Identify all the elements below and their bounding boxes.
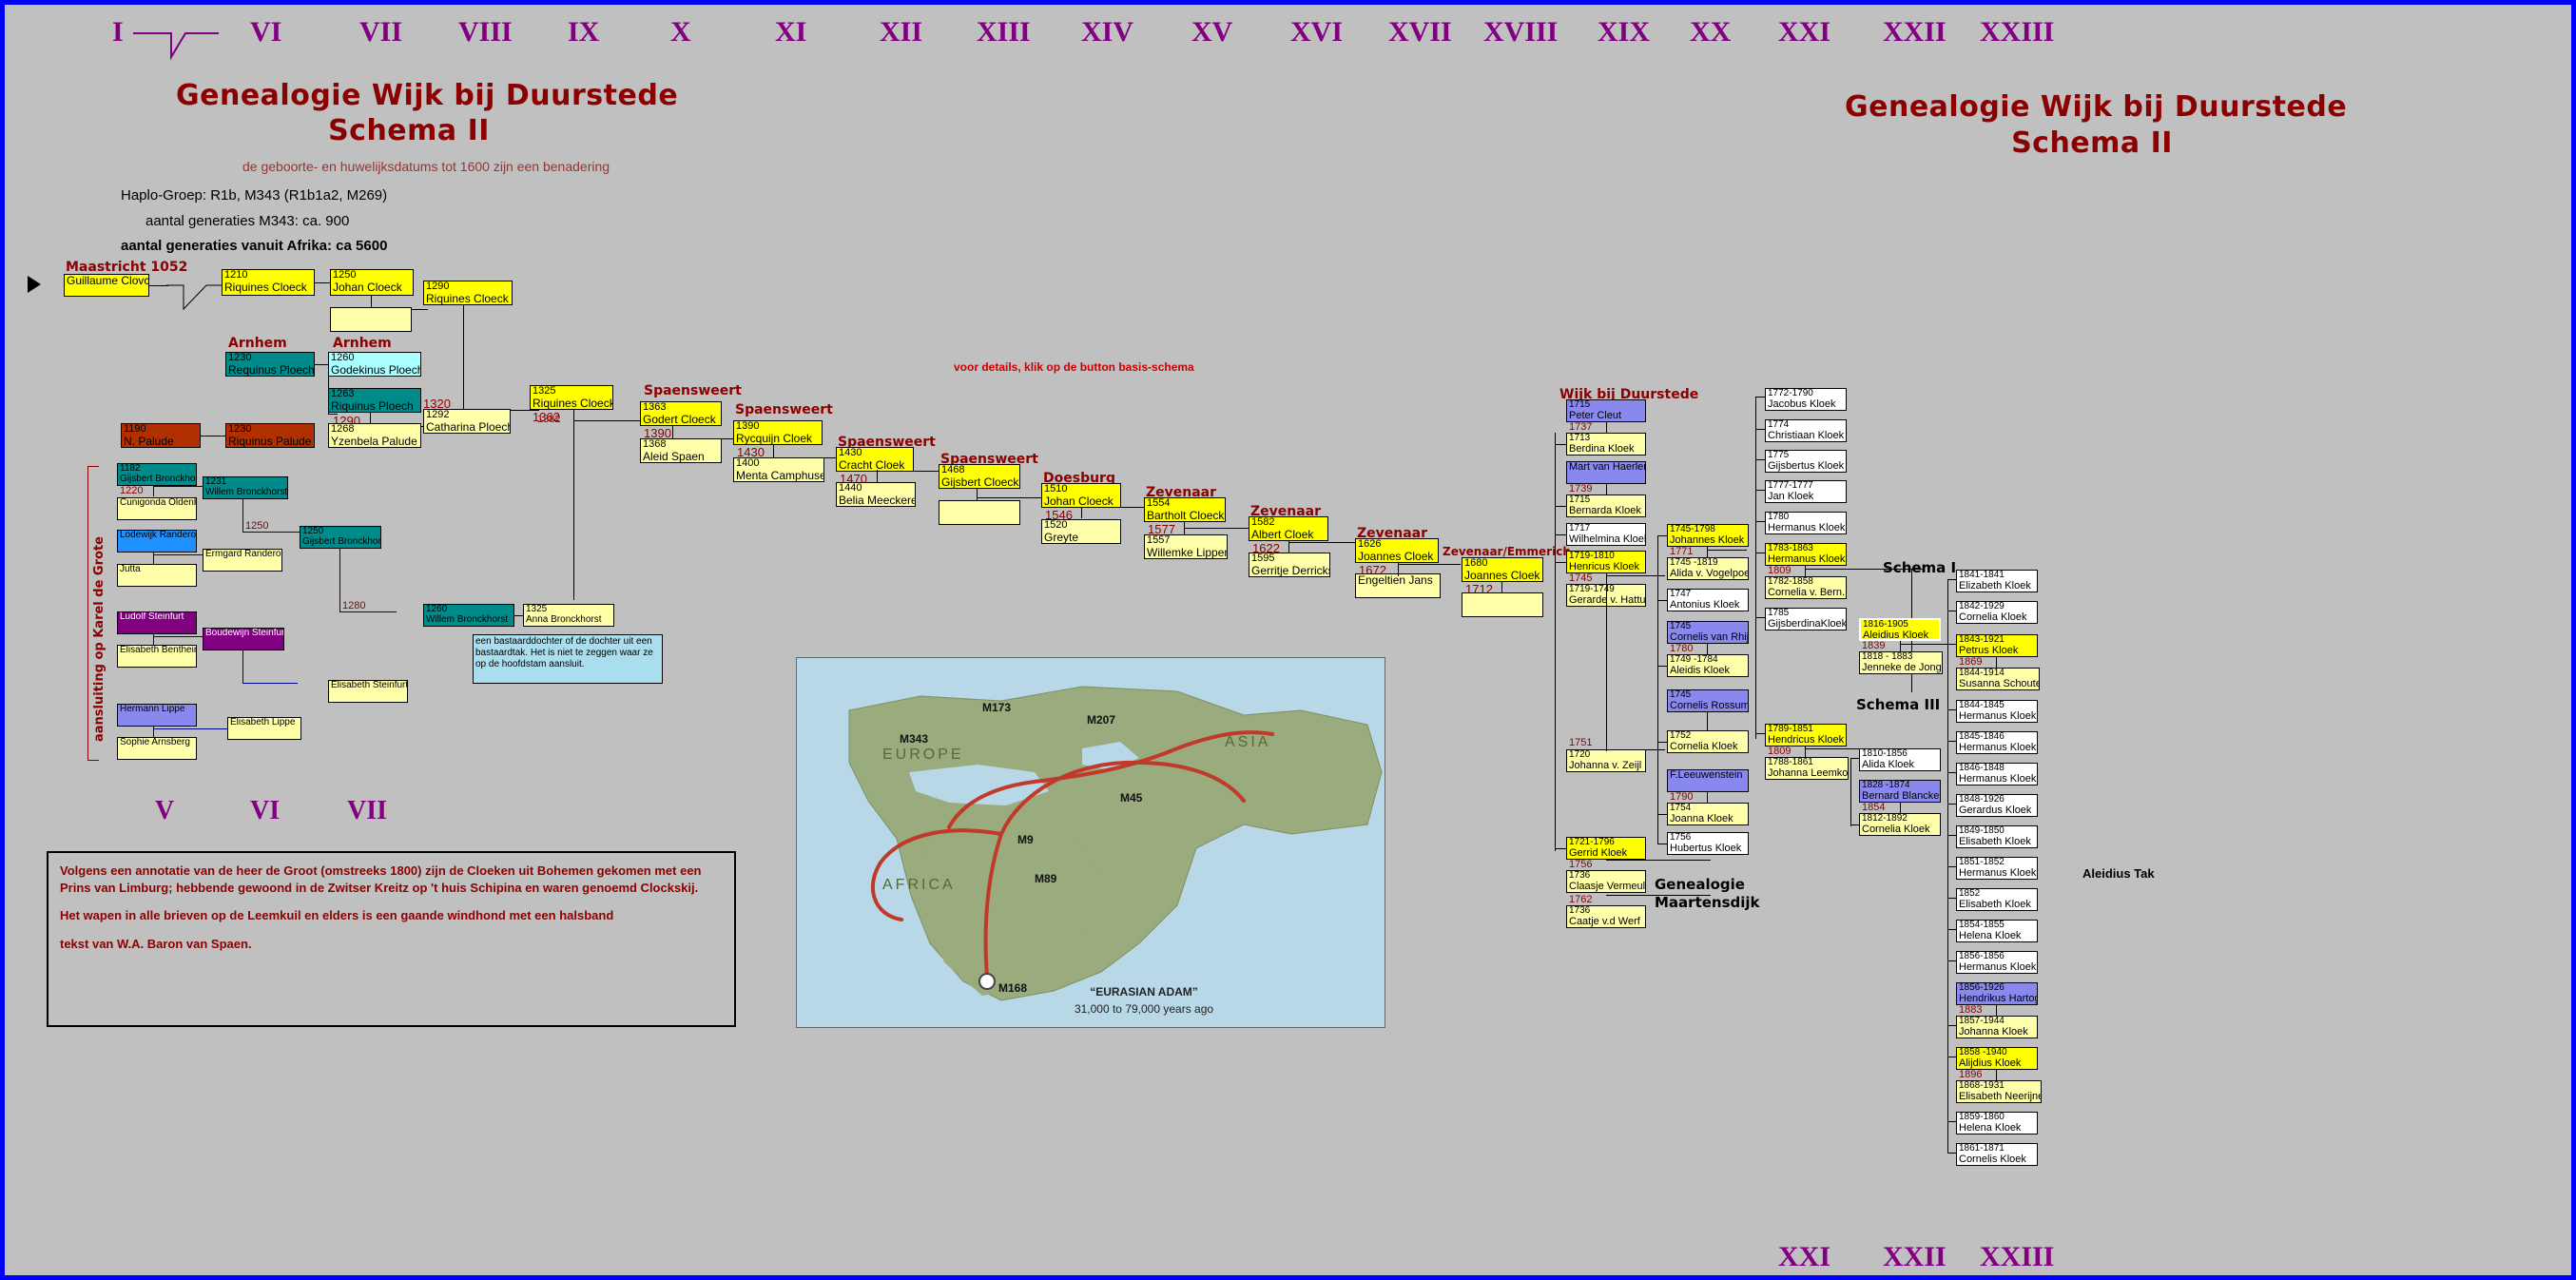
person-name: Johannes Kloek: [1670, 535, 1746, 547]
person-year: 1210: [224, 270, 312, 281]
person-name: Rycquijn Cloek: [736, 433, 820, 445]
person-box-alijdius1858[interactable]: 1858 -1940 Alijdius Kloek: [1956, 1047, 2038, 1070]
marriage-year-1896: 1896: [1959, 1069, 1982, 1080]
person-name: Cornelia Kloek: [1670, 742, 1746, 753]
person-box-elisabeth-bentheim[interactable]: Elisabeth Bentheim: [117, 645, 197, 668]
person-box-f-leeuwenstein[interactable]: F.Leeuwenstein: [1667, 769, 1749, 792]
person-year: 1263: [331, 389, 418, 400]
person-box-riquinus-palude[interactable]: 1230 Riquinus Palude: [225, 423, 315, 448]
marriage-year-1809b: 1809: [1768, 746, 1791, 757]
person-name: Jenneke de Jong: [1862, 663, 1940, 674]
map-marker-M168: M168: [998, 981, 1027, 995]
marriage-year-1751: 1751: [1569, 737, 1592, 748]
person-year: 1856-1856: [1959, 952, 2035, 962]
person-name: Elisabeth Kloek: [1959, 900, 2035, 911]
person-year: 1782-1858: [1768, 577, 1844, 588]
person-box-johan1510[interactable]: 1510 Johan Cloeck: [1041, 483, 1121, 508]
person-year: 1810-1856: [1862, 749, 1938, 760]
person-name: Jutta: [120, 565, 194, 575]
annotation-note-box: Volgens een annotatie van de heer de Gro…: [47, 851, 736, 1027]
person-name: Albert Cloek: [1251, 529, 1326, 541]
person-year: 1816-1905: [1863, 620, 1937, 630]
person-box-jan1777[interactable]: 1777-1777 Jan Kloek: [1765, 480, 1847, 503]
person-box-godekinus1260[interactable]: 1260 Godekinus Ploech: [328, 352, 421, 377]
person-box-aleidis1749[interactable]: 1749 -1784 Aleidis Kloek: [1667, 654, 1749, 677]
person-name: Peter Cleut: [1569, 411, 1643, 422]
person-box-riquinus1263[interactable]: 1263 Riquinus Ploech: [328, 388, 421, 413]
person-year: 1250: [333, 270, 411, 281]
person-year: 1626: [1358, 539, 1436, 551]
person-name: Godert Cloeck: [643, 414, 719, 426]
person-year: 1842-1929: [1959, 602, 2035, 612]
person-year: 1754: [1670, 804, 1746, 814]
person-name: GijsberdinaKloek: [1768, 619, 1844, 630]
person-name: Bernarda Kloek: [1569, 506, 1643, 517]
person-year: 1852: [1959, 889, 2035, 900]
person-box-jacobus1772[interactable]: 1772-1790 Jacobus Kloek: [1765, 388, 1847, 411]
person-year: 1715: [1569, 495, 1643, 506]
person-name: Hermanus Kloek: [1959, 743, 2035, 754]
person-box-hendricus1789[interactable]: 1789-1851 Hendricus Kloek: [1765, 724, 1847, 747]
person-name: Catharina Ploech: [426, 421, 508, 434]
ruler-top-XI: XI: [775, 16, 806, 48]
person-name: Johan Cloeck: [333, 281, 411, 294]
person-box-hermanus1845[interactable]: 1845-1846 Hermanus Kloek: [1956, 731, 2038, 754]
person-name: Boudewijn Steinfurt: [205, 629, 281, 639]
person-year: 1325: [526, 605, 611, 615]
person-box-gijsbert1468[interactable]: 1468 Gijsbert Cloeck: [939, 464, 1020, 489]
person-year: 1818 - 1883: [1862, 652, 1940, 663]
haplogroup-line-1: Haplo-Groep: R1b, M343 (R1b1a2, M269): [121, 187, 387, 204]
label-genealogie-maartensdijk-1[interactable]: Genealogie: [1655, 876, 1745, 893]
person-box-requinus1230[interactable]: 1230 Requinus Ploech: [225, 352, 315, 377]
person-year: 1680: [1464, 558, 1540, 570]
person-year: 1736: [1569, 871, 1643, 882]
person-year: 1858 -1940: [1959, 1048, 2035, 1058]
map-label-africa: AFRICA: [882, 877, 956, 894]
ruler-top-XXII: XXII: [1883, 16, 1947, 48]
person-name: Alijdius Kloek: [1959, 1058, 2035, 1070]
person-name: Alida v. Vogelpoel: [1670, 569, 1746, 580]
person-name: Berdina Kloek: [1569, 444, 1643, 456]
person-box-albert1582[interactable]: 1582 Albert Cloek: [1249, 516, 1328, 541]
person-name: Johanna Kloek: [1959, 1027, 2035, 1038]
person-box-cornelia1842[interactable]: 1842-1929 Cornelia Kloek: [1956, 601, 2038, 624]
person-year: 1260: [331, 353, 418, 364]
person-name: Elisabeth Lippe: [230, 718, 299, 728]
genealogy-chart-canvas: I VI VII VIII IX X XI XII XIII XIV XV XV…: [5, 5, 2571, 1275]
person-box-claasje[interactable]: 1736 Claasje Vermeulen: [1566, 870, 1646, 893]
person-year: 1780: [1768, 513, 1844, 523]
person-year: 1774: [1768, 420, 1844, 431]
ruler-top-XIV: XIV: [1081, 16, 1133, 48]
person-box-bernard-blancke[interactable]: 1828 -1874 Bernard Blancke: [1859, 780, 1941, 803]
person-name: Wilhelmina Kloek: [1569, 534, 1643, 546]
person-box-gerardus1848[interactable]: 1848-1926 Gerardus Kloek: [1956, 794, 2038, 817]
person-name: F.Leeuwenstein: [1670, 770, 1746, 782]
person-year: 1510: [1044, 484, 1118, 495]
person-box-hermanus1783[interactable]: 1783-1863 Hermanus Kloek: [1765, 543, 1847, 566]
person-box-cornelis-rhijn[interactable]: 1745 Cornelis van Rhijn: [1667, 621, 1749, 644]
person-year: 1789-1851: [1768, 725, 1844, 735]
map-caption-line2: 31,000 to 79,000 years ago: [1035, 1002, 1253, 1016]
person-year: 1290: [426, 281, 510, 293]
person-box-hermanus1780[interactable]: 1780 Hermanus Kloek: [1765, 512, 1847, 534]
person-box-catharina1292[interactable]: 1292 Catharina Ploech: [423, 409, 511, 434]
person-name: Requinus Ploech: [228, 364, 312, 377]
person-year: 1745 -1819: [1670, 558, 1746, 569]
person-box-susanna1844[interactable]: 1844-1914 Susanna Schouten: [1956, 668, 2040, 690]
person-box-anna1325[interactable]: 1325 Anna Bronckhorst: [523, 604, 614, 627]
subtitle-left: de geboorte- en huwelijksdatums tot 1600…: [242, 159, 610, 174]
person-box-johan1250[interactable]: 1250 Johan Cloeck: [330, 269, 414, 296]
label-aleidius-tak: Aleidius Tak: [2082, 866, 2155, 881]
person-box-gijsberdina1785[interactable]: 1785 GijsberdinaKloek: [1765, 608, 1847, 630]
person-box-godert1363[interactable]: 1363 Godert Cloeck: [640, 401, 722, 426]
person-name: Hermanus Kloek: [1959, 868, 2035, 880]
ruler-top-IX: IX: [568, 16, 599, 48]
person-name: Willem Bronckhorst: [205, 488, 285, 498]
person-name: Willem Bronckhorst: [426, 615, 512, 626]
person-box-hermanus1844[interactable]: 1844-1845 Hermanus Kloek: [1956, 700, 2038, 723]
marriage-year-1745: 1745: [1569, 572, 1592, 584]
person-name: Mart van Haerlem: [1569, 462, 1643, 474]
person-name: Claasje Vermeulen: [1569, 882, 1643, 893]
person-name: Hubertus Kloek: [1670, 844, 1746, 855]
page-title-right-line2: Schema II: [1845, 126, 2339, 160]
person-box-cunigonda[interactable]: Cunigonda Oldenburg: [117, 497, 197, 520]
person-year: 1390: [736, 421, 820, 433]
note-paragraph-3: tekst van W.A. Baron van Spaen.: [60, 936, 723, 953]
person-year: 1848-1926: [1959, 795, 2035, 805]
person-year: 1777-1777: [1768, 481, 1844, 492]
marriage-year-1869: 1869: [1959, 656, 1982, 668]
person-year: 1368: [643, 439, 719, 451]
person-year: 1841-1841: [1959, 571, 2035, 581]
person-box-petrus1843[interactable]: 1843-1921 Petrus Kloek: [1956, 634, 2038, 657]
person-name: Cracht Cloek: [839, 459, 911, 472]
person-year: 1713: [1569, 434, 1643, 444]
person-box-menta1400[interactable]: 1400 Menta Camphusen: [733, 457, 824, 482]
person-box-jutta[interactable]: Jutta: [117, 564, 197, 587]
ruler-top-XII: XII: [880, 16, 922, 48]
person-year: 1857-1944: [1959, 1017, 2035, 1027]
person-box-elisabeth-neerijnen[interactable]: 1868-1931 Elisabeth Neerijnen: [1956, 1080, 2042, 1103]
person-name: Hermanus Kloek: [1768, 554, 1844, 566]
person-year: 1843-1921: [1959, 635, 2035, 646]
person-name: Greyte: [1044, 532, 1118, 544]
start-arrow-icon: [28, 276, 41, 293]
person-name: Joannes Cloek: [1464, 570, 1540, 582]
person-name: Yzenbela Palude: [331, 436, 418, 448]
person-box-cornelia1812[interactable]: 1812-1892 Cornelia Kloek: [1859, 813, 1941, 836]
person-box-elisabeth1852[interactable]: 1852 Elisabeth Kloek: [1956, 888, 2038, 911]
person-year: 1849-1850: [1959, 826, 2035, 837]
person-year: 1231: [205, 477, 285, 488]
person-box-gijsbert1250[interactable]: 1250 Gijsbert Bronckhorst: [300, 526, 381, 549]
marriage-year-1883: 1883: [1959, 1004, 1982, 1016]
person-year: 1719-1810: [1569, 552, 1643, 562]
map-marker-M343: M343: [900, 732, 928, 746]
person-year: 1856-1926: [1959, 983, 2035, 994]
ruler-top-XVII: XVII: [1388, 16, 1452, 48]
marriage-year-1280: 1280: [342, 600, 365, 611]
person-name: Willemke Lippert: [1147, 547, 1225, 559]
person-box-joannes1680[interactable]: 1680 Joannes Cloek: [1462, 557, 1543, 582]
label-genealogie-maartensdijk-2[interactable]: Maartensdijk: [1655, 894, 1760, 911]
person-name: Ermgard Randerode: [205, 550, 280, 560]
person-box-joannes1626[interactable]: 1626 Joannes Cloek: [1355, 538, 1439, 563]
person-box-cornelia-bern[interactable]: 1782-1858 Cornelia v. Bern.: [1765, 576, 1847, 599]
person-box-hendrikus-hartog[interactable]: 1856-1926 Hendrikus Hartog: [1956, 982, 2038, 1005]
map-marker-M89: M89: [1035, 872, 1056, 885]
person-box-christiaan1774[interactable]: 1774 Christiaan Kloek: [1765, 419, 1847, 442]
person-year: 1745-1798: [1670, 525, 1746, 535]
person-box-willemke1557[interactable]: 1557 Willemke Lippert: [1144, 534, 1228, 559]
person-year: 1859-1860: [1959, 1113, 2035, 1123]
person-year: 1745: [1670, 690, 1746, 701]
person-name: Petrus Kloek: [1959, 646, 2035, 657]
person-box-guillaume[interactable]: Guillaume Clovck: [64, 274, 149, 297]
person-box-elizabeth1841[interactable]: 1841-1841 Elizabeth Kloek: [1956, 570, 2038, 592]
person-box-mart-haerlem[interactable]: Mart van Haerlem: [1566, 461, 1646, 484]
person-year: 1268: [331, 424, 418, 436]
person-name: Riquinus Ploech: [331, 400, 418, 413]
person-name: Gerrid Kloek: [1569, 848, 1643, 860]
person-name: Bartholt Cloeck: [1147, 510, 1223, 522]
person-name: Joanna Kloek: [1670, 814, 1746, 825]
vertical-note-karel-de-grote: aansluiting op Karel de Grote: [92, 536, 107, 742]
bastard-note-box: een bastaarddochter of de dochter uit ee…: [473, 634, 663, 684]
person-year: 1182: [120, 464, 194, 475]
page-title-left-line2: Schema II: [176, 114, 642, 147]
person-box-johanna-zeijl[interactable]: 1720 Johanna v. Zeijl: [1566, 749, 1646, 772]
person-box-helena1854[interactable]: 1854-1855 Helena Kloek: [1956, 920, 2038, 942]
person-name: Johanna v. Zeijl: [1569, 761, 1643, 772]
label-schema-i[interactable]: Schema I: [1883, 559, 1956, 576]
ruler-top-XXIII: XXIII: [1980, 16, 2054, 48]
person-box-gerritje1595[interactable]: 1595 Gerritje Derricks: [1249, 553, 1330, 577]
person-year: 1325: [533, 386, 610, 398]
person-name: Gijsbert Cloeck: [941, 476, 1017, 489]
person-name: Gijsbertus Kloek: [1768, 461, 1844, 473]
person-year: 1292: [426, 410, 508, 421]
person-name: N. Palude: [124, 436, 198, 448]
person-year: 1557: [1147, 535, 1225, 547]
person-year: 1845-1846: [1959, 732, 2035, 743]
details-hint-text[interactable]: voor details, klik op de button basis-sc…: [954, 360, 1194, 374]
person-year: 1468: [941, 465, 1017, 476]
ruler-top-VII: VII: [359, 16, 402, 48]
person-year: 1846-1848: [1959, 764, 2035, 774]
person-box-wilhelmina[interactable]: 1717 Wilhelmina Kloek: [1566, 523, 1646, 546]
label-arnhem-1: Arnhem: [228, 336, 287, 351]
person-box-engeltien[interactable]: Engeltien Jans: [1355, 573, 1441, 598]
person-name: Belia Meeckeren: [839, 495, 913, 507]
person-year: 1844-1914: [1959, 669, 2037, 679]
person-name: Riquines Cloeck: [224, 281, 312, 294]
person-box-hermanus1846[interactable]: 1846-1848 Hermanus Kloek: [1956, 763, 2038, 785]
person-box-bartholt1554[interactable]: 1554 Bartholt Cloeck: [1144, 497, 1226, 522]
person-name: Elisabeth Steinfurt: [331, 681, 405, 691]
person-box-ermgard[interactable]: Ermgard Randerode: [203, 549, 282, 572]
person-box-willem1231[interactable]: 1231 Willem Bronckhorst: [203, 476, 288, 499]
person-year: 1715: [1569, 400, 1643, 411]
person-box-johannes1745[interactable]: 1745-1798 Johannes Kloek: [1667, 524, 1749, 547]
person-box-rycquijn1390[interactable]: 1390 Rycquijn Cloek: [733, 420, 823, 445]
person-year: 1772-1790: [1768, 389, 1844, 399]
label-zevenaar-emmerich: Zevenaar/Emmerich: [1443, 545, 1571, 558]
person-year: 1861-1871: [1959, 1144, 2035, 1154]
person-box-cracht1430[interactable]: 1430 Cracht Cloek: [836, 447, 914, 472]
person-box-blank3[interactable]: [1462, 592, 1543, 617]
person-year: 1250: [302, 527, 378, 537]
person-box-aleid1368[interactable]: 1368 Aleid Spaen: [640, 438, 722, 463]
person-box-johanna-leemkolk[interactable]: 1788-1861 Johanna Leemkolk: [1765, 757, 1849, 780]
person-box-riquines1210[interactable]: 1210 Riquines Cloeck: [222, 269, 315, 296]
ruler-top-XVI: XVI: [1290, 16, 1343, 48]
person-box-johanna1857[interactable]: 1857-1944 Johanna Kloek: [1956, 1016, 2038, 1038]
person-year: 1260: [426, 605, 512, 615]
haplogroup-line-2: aantal generaties M343: ca. 900: [145, 213, 349, 229]
marriage-year-1790: 1790: [1670, 791, 1693, 803]
person-box-gijsbertus1775[interactable]: 1775 Gijsbertus Kloek: [1765, 450, 1847, 473]
person-box-caatje[interactable]: 1736 Caatje v.d Werf: [1566, 905, 1646, 928]
person-name: Cornelia Kloek: [1862, 824, 1938, 836]
person-year: 1788-1861: [1768, 758, 1846, 768]
person-box-willem1260[interactable]: 1260 Willem Bronckhorst: [423, 604, 514, 627]
label-spaensweert-1: Spaensweert: [644, 383, 742, 398]
page-title-right-line1: Genealogie Wijk bij Duurstede: [1845, 90, 2339, 124]
person-box-lodewijk[interactable]: Lodewijk Randerode: [117, 530, 197, 553]
person-box-elisabeth1849[interactable]: 1849-1850 Elisabeth Kloek: [1956, 825, 2038, 848]
person-box-belia1440[interactable]: 1440 Belia Meeckeren: [836, 482, 916, 507]
marriage-year-1839: 1839: [1862, 640, 1885, 651]
person-box-peter-cleut[interactable]: 1715 Peter Cleut: [1566, 399, 1646, 422]
person-box-jenneke[interactable]: 1818 - 1883 Jenneke de Jong: [1859, 651, 1943, 674]
person-name: Cornelia Kloek: [1959, 612, 2035, 624]
person-name: Gerardus Kloek: [1959, 805, 2035, 817]
person-year: 1230: [228, 424, 312, 436]
haplogroup-line-3: aantal generaties vanuit Afrika: ca 5600: [121, 238, 387, 254]
person-box-cornelia1752[interactable]: 1752 Cornelia Kloek: [1667, 730, 1749, 753]
person-name: Elisabeth Bentheim: [120, 646, 194, 656]
person-box-npalude1190[interactable]: 1190 N. Palude: [121, 423, 201, 448]
person-box-riquines1325[interactable]: 1325 Riquines Cloeck: [530, 385, 613, 410]
marriage-year-1854: 1854: [1862, 802, 1885, 813]
map-marker-M173: M173: [982, 701, 1011, 714]
marriage-year-1756: 1756: [1569, 859, 1592, 870]
person-box-elisabeth-lippe[interactable]: Elisabeth Lippe: [227, 717, 301, 740]
person-name: Antonius Kloek: [1670, 600, 1746, 611]
person-name: Hermann Lippe: [120, 705, 194, 715]
person-name: Riquines Cloeck: [533, 398, 610, 410]
marriage-year-1809a: 1809: [1768, 565, 1791, 576]
marriage-year-1382: 1382: [537, 414, 560, 425]
person-box-gerrid[interactable]: 1721-1796 Gerrid Kloek: [1566, 837, 1646, 860]
person-box-cornelis1861[interactable]: 1861-1871 Cornelis Kloek: [1956, 1143, 2038, 1166]
ruler-top-XVIII: XVIII: [1483, 16, 1558, 48]
person-box-hermanus1851[interactable]: 1851-1852 Hermanus Kloek: [1956, 857, 2038, 880]
person-name: Anna Bronckhorst: [526, 615, 611, 626]
person-box-sophie-arnsberg[interactable]: Sophie Arnsberg: [117, 737, 197, 760]
person-name: Hendricus Kloek: [1768, 735, 1844, 747]
person-box-alida-vogelpoel[interactable]: 1745 -1819 Alida v. Vogelpoel: [1667, 557, 1749, 580]
person-box-alida1810[interactable]: 1810-1856 Alida Kloek: [1859, 748, 1941, 771]
person-name: Bernard Blancke: [1862, 791, 1938, 803]
person-box-helena1859[interactable]: 1859-1860 Helena Kloek: [1956, 1112, 2038, 1135]
person-box-antonius1747[interactable]: 1747 Antonius Kloek: [1667, 589, 1749, 611]
marriage-year-1780: 1780: [1670, 643, 1693, 654]
note-paragraph-1: Volgens een annotatie van de heer de Gro…: [60, 863, 723, 896]
person-year: 1430: [839, 448, 911, 459]
marriage-year-1739: 1739: [1569, 483, 1592, 495]
ruler-bottom-XXIII: XXIII: [1980, 1241, 2054, 1273]
person-name: Johan Cloeck: [1044, 495, 1118, 508]
person-year: 1812-1892: [1862, 814, 1938, 824]
person-year: 1783-1863: [1768, 544, 1844, 554]
person-name: Henricus Kloek: [1569, 562, 1643, 573]
note-paragraph-2: Het wapen in alle brieven op de Leemkuil…: [60, 907, 723, 924]
person-name: Riquines Cloeck: [426, 293, 510, 305]
ruler-mid-V: V: [155, 796, 174, 826]
person-box-bernarda[interactable]: 1715 Bernarda Kloek: [1566, 495, 1646, 517]
person-box-riquines1290[interactable]: 1290 Riquines Cloeck: [423, 281, 513, 305]
label-schema-iii[interactable]: Schema III: [1856, 696, 1940, 713]
person-box-hermann-lippe[interactable]: Hermann Lippe: [117, 704, 197, 727]
person-box-boudewijn[interactable]: Boudewijn Steinfurt: [203, 628, 284, 650]
person-name: Cornelis Rossum: [1670, 701, 1746, 712]
migration-map: EUROPE ASIA AFRICA M343 M173 M207 M45 M9…: [796, 657, 1385, 1028]
person-year: 1828 -1874: [1862, 781, 1938, 791]
person-year: 1400: [736, 458, 822, 470]
person-box-hubertus1756[interactable]: 1756 Hubertus Kloek: [1667, 832, 1749, 855]
person-box-elisabeth-steinfurt[interactable]: Elisabeth Steinfurt: [328, 680, 408, 703]
person-box-yzenbela1268[interactable]: 1268 Yzenbela Palude: [328, 423, 421, 448]
ruler-top-XXI: XXI: [1778, 16, 1830, 48]
person-name: Elisabeth Kloek: [1959, 837, 2035, 848]
map-marker-M207: M207: [1087, 713, 1115, 727]
person-name: Hermanus Kloek: [1959, 962, 2035, 974]
person-box-blank1[interactable]: [330, 307, 412, 332]
marriage-year-1737: 1737: [1569, 421, 1592, 433]
marriage-year-1762: 1762: [1569, 894, 1592, 905]
person-box-greyte1520[interactable]: 1520 Greyte: [1041, 519, 1121, 544]
person-year: 1720: [1569, 750, 1643, 761]
person-box-gijsbert1182[interactable]: 1182 Gijsbert Bronckhorst: [117, 463, 197, 486]
person-box-ludolf[interactable]: Ludolf Steinfurt: [117, 611, 197, 634]
person-name: Hendrikus Hartog: [1959, 994, 2035, 1005]
person-box-berdina[interactable]: 1713 Berdina Kloek: [1566, 433, 1646, 456]
person-box-cornelis-rossum[interactable]: 1745 Cornelis Rossum: [1667, 689, 1749, 712]
person-year: 1736: [1569, 906, 1643, 917]
person-year: 1554: [1147, 498, 1223, 510]
person-box-hermanus1856[interactable]: 1856-1856 Hermanus Kloek: [1956, 951, 2038, 974]
person-name: Hermanus Kloek: [1959, 711, 2035, 723]
ruler-top-XIX: XIX: [1598, 16, 1650, 48]
person-name: Christiaan Kloek: [1768, 431, 1844, 442]
person-year: 1745: [1670, 622, 1746, 632]
person-box-blank2[interactable]: [939, 500, 1020, 525]
person-box-henricus[interactable]: 1719-1810 Henricus Kloek: [1566, 551, 1646, 573]
person-year: 1721-1796: [1569, 838, 1643, 848]
map-label-asia: ASIA: [1225, 734, 1270, 751]
person-name: Gijsbert Bronckhorst: [302, 537, 378, 548]
person-box-joanna1754[interactable]: 1754 Joanna Kloek: [1667, 803, 1749, 825]
person-box-aleidius1816[interactable]: 1816-1905 Aleidius Kloek: [1859, 618, 1941, 641]
person-year: 1851-1852: [1959, 858, 2035, 868]
person-name: Cunigonda Oldenburg: [120, 498, 194, 509]
